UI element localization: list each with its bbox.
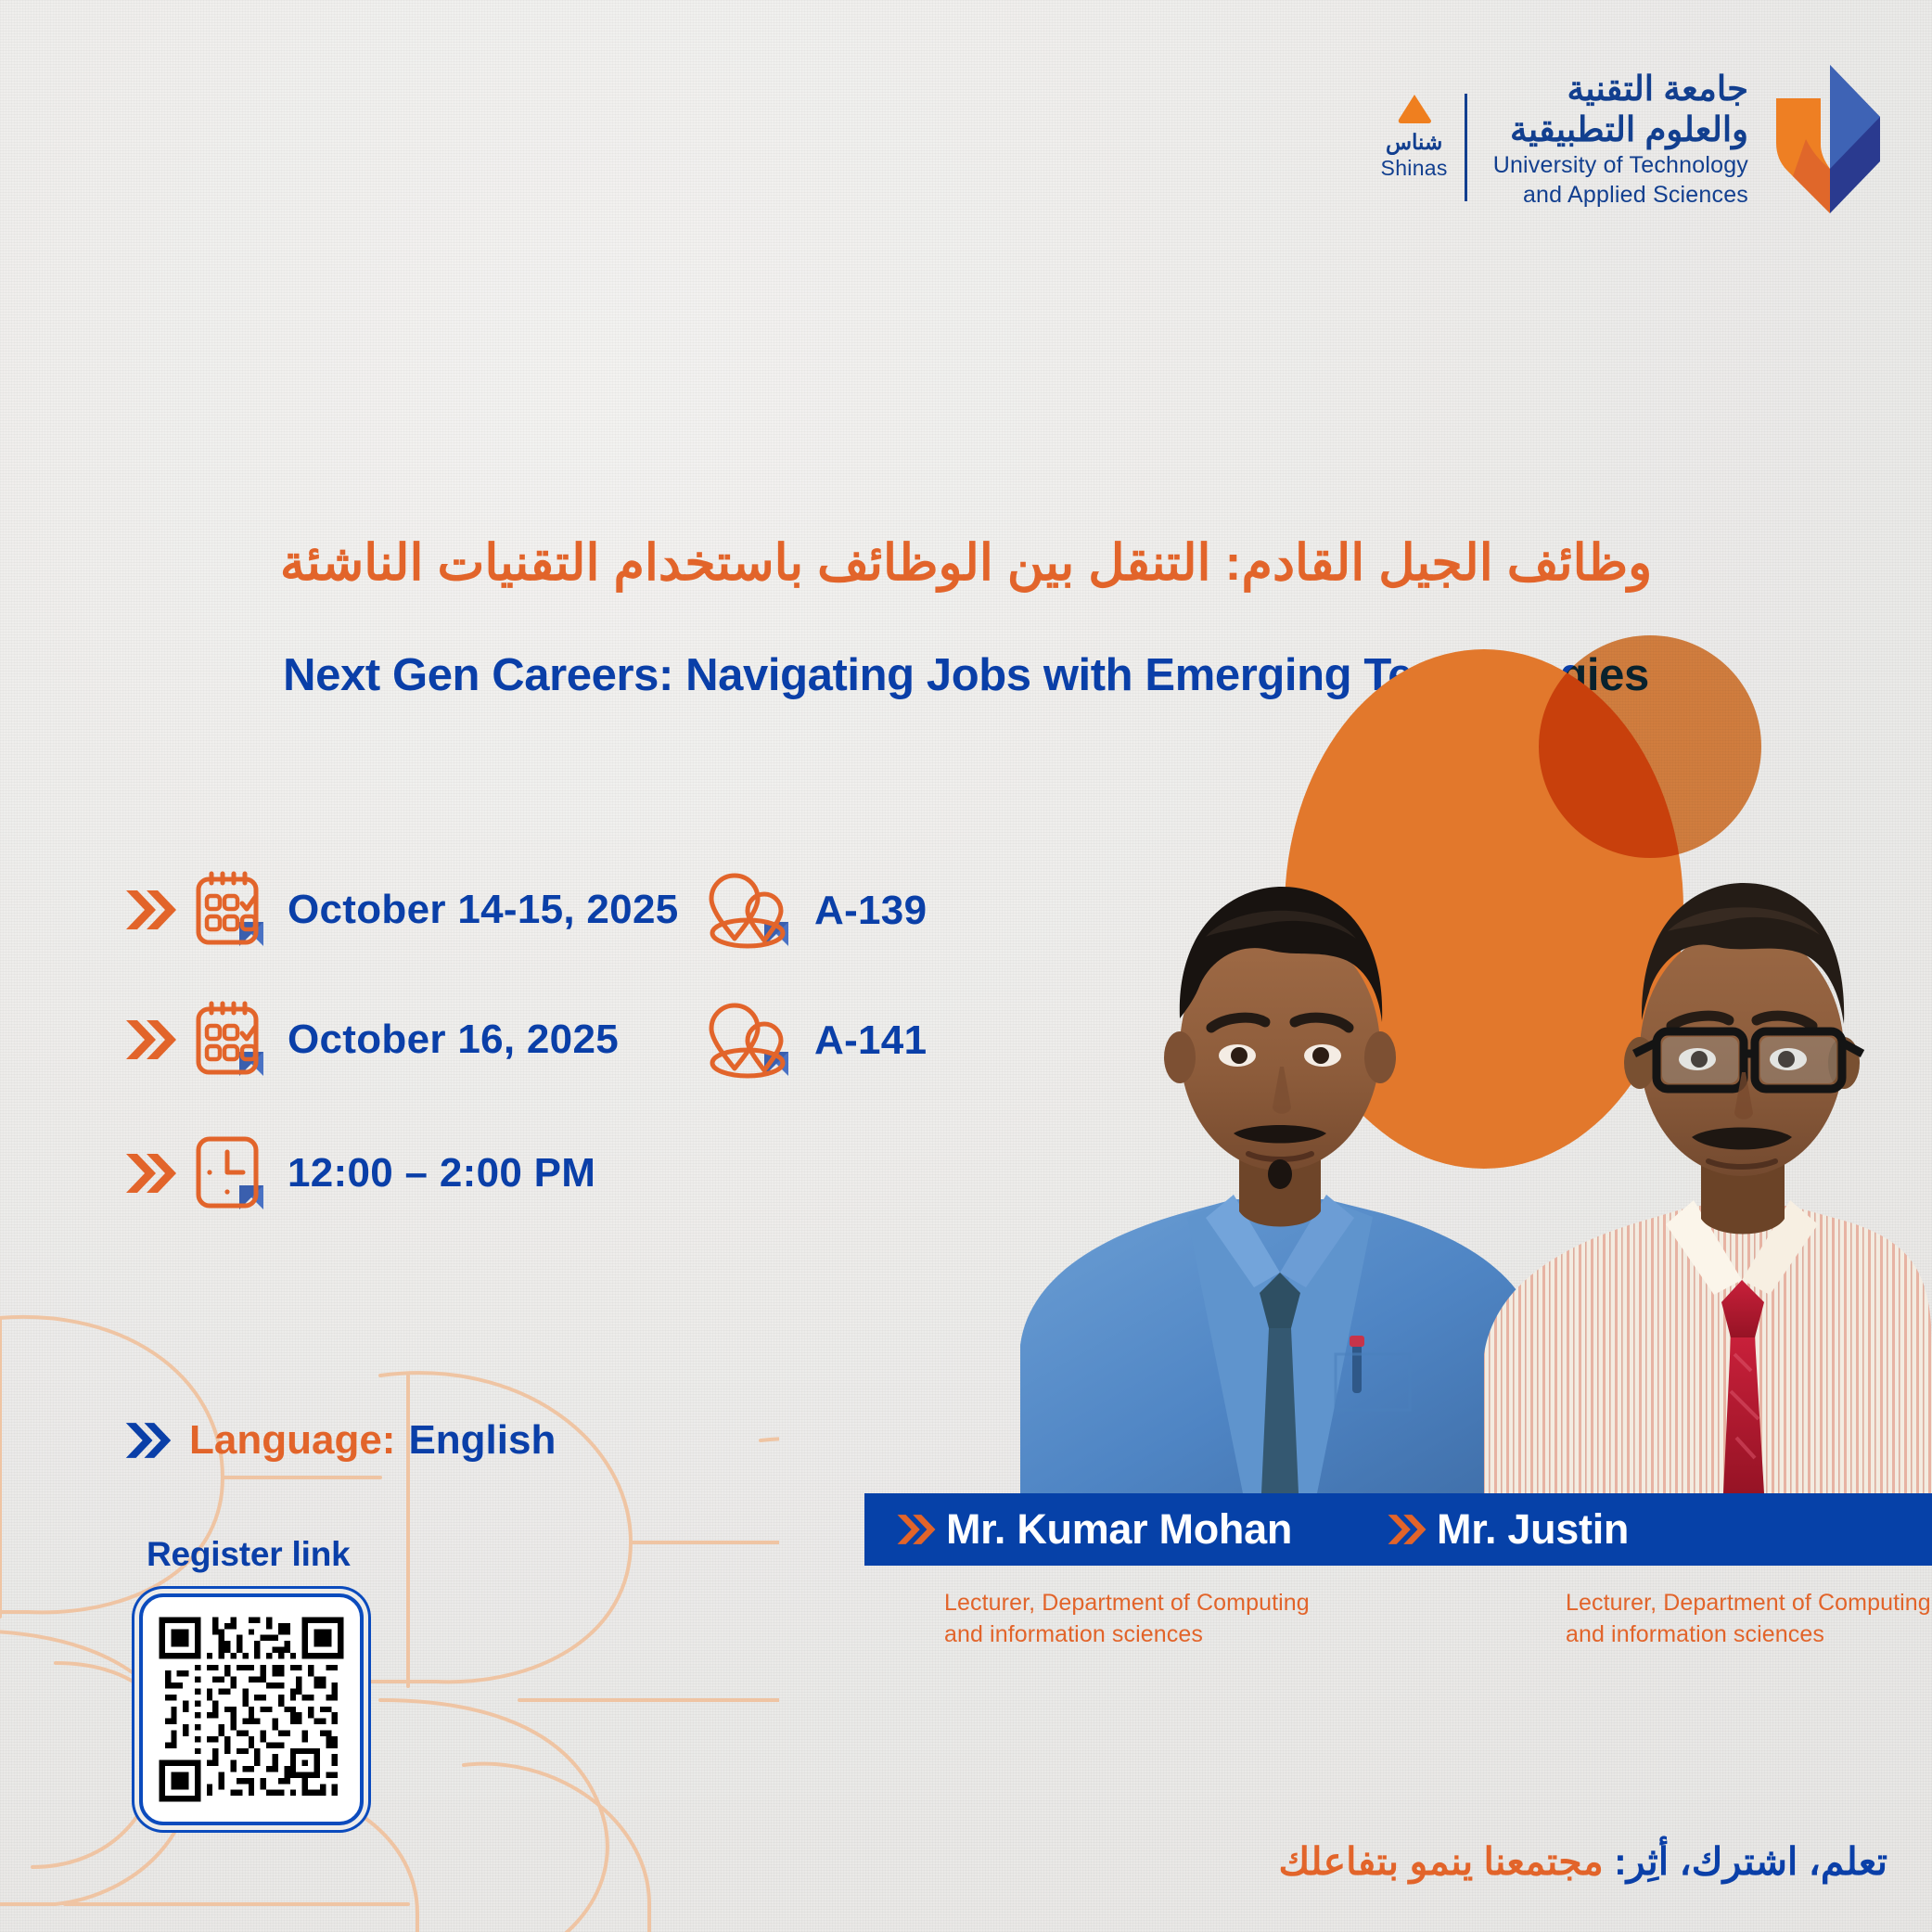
chevron-double-right-icon xyxy=(1387,1509,1427,1550)
date-1-text: October 14-15, 2025 xyxy=(288,887,679,933)
qr-code-frame[interactable] xyxy=(139,1593,364,1825)
tagline-blue-part: تعلم، اشترك، أثِر: xyxy=(1614,1840,1887,1883)
location-pin-icon xyxy=(707,1000,796,1081)
tagline-orange-part: مجتمعنا ينمو بتفاعلك xyxy=(1278,1840,1614,1883)
chevron-double-right-icon xyxy=(124,1017,178,1063)
university-name-english-2: and Applied Sciences xyxy=(1493,180,1748,210)
venue-2-text: A-141 xyxy=(814,1017,927,1064)
speaker-role-1-line1: Lecturer, Department of Computing xyxy=(944,1588,1310,1619)
chevron-double-right-icon xyxy=(124,1419,173,1462)
speaker-role-1: Lecturer, Department of Computing and in… xyxy=(944,1588,1310,1651)
speaker-role-2-line2: and information sciences xyxy=(1566,1619,1931,1651)
speaker-photo-left xyxy=(1020,887,1540,1493)
calendar-icon xyxy=(191,1000,269,1080)
bottom-tagline: تعلم، اشترك، أثِر: مجتمعنا ينمو بتفاعلك xyxy=(1278,1839,1887,1884)
speaker-photo-right xyxy=(1484,883,1932,1493)
chevron-double-right-icon xyxy=(896,1509,937,1550)
university-logo: شناس Shinas جامعة التقنية والعلوم التطبي… xyxy=(1381,56,1889,223)
speakers-name-bar: Mr. Kumar Mohan Mr. Justin xyxy=(864,1493,1932,1566)
campus-name-english: Shinas xyxy=(1381,155,1448,182)
speaker-role-2-line1: Lecturer, Department of Computing xyxy=(1566,1588,1931,1619)
speaker-name-2-text: Mr. Justin xyxy=(1437,1505,1629,1554)
time-text: 12:00 – 2:00 PM xyxy=(288,1150,595,1196)
logo-divider xyxy=(1465,94,1467,201)
title-arabic: وظائف الجيل القادم: التنقل بين الوظائف ب… xyxy=(0,533,1932,592)
event-poster: شناس Shinas جامعة التقنية والعلوم التطبي… xyxy=(0,0,1932,1932)
detail-row-venue-2: A-141 xyxy=(707,1000,927,1081)
language-value: English xyxy=(408,1417,556,1464)
utas-shield-icon xyxy=(1769,59,1889,219)
campus-name-arabic: شناس xyxy=(1386,130,1442,154)
detail-row-language: Language: English xyxy=(124,1417,556,1464)
detail-row-date-2: October 16, 2025 xyxy=(124,1000,619,1080)
speakers-photo xyxy=(928,705,1932,1493)
calendar-icon xyxy=(191,870,269,950)
chevron-double-right-icon xyxy=(124,887,178,933)
shinas-triangle-icon xyxy=(1396,93,1433,124)
speaker-role-1-line2: and information sciences xyxy=(944,1619,1310,1651)
detail-row-time: 12:00 – 2:00 PM xyxy=(124,1133,595,1213)
university-name-arabic-2: والعلوم التطبيقية xyxy=(1493,109,1748,150)
registration-qr-code[interactable] xyxy=(153,1608,350,1810)
register-link-label: Register link xyxy=(147,1535,350,1574)
chevron-double-right-icon xyxy=(124,1150,178,1196)
speaker-name-2: Mr. Justin xyxy=(1387,1505,1629,1554)
campus-lockup: شناس Shinas xyxy=(1381,93,1448,185)
clock-icon xyxy=(191,1133,269,1213)
university-name-english-1: University of Technology xyxy=(1493,150,1748,180)
venue-1-text: A-139 xyxy=(814,888,927,934)
speaker-name-1: Mr. Kumar Mohan xyxy=(896,1505,1292,1554)
university-name-arabic-1: جامعة التقنية xyxy=(1493,69,1748,109)
detail-row-date-1: October 14-15, 2025 xyxy=(124,870,679,950)
speaker-name-1-text: Mr. Kumar Mohan xyxy=(946,1505,1292,1554)
date-2-text: October 16, 2025 xyxy=(288,1017,619,1063)
speaker-role-2: Lecturer, Department of Computing and in… xyxy=(1566,1588,1931,1651)
location-pin-icon xyxy=(707,870,796,952)
language-label: Language: xyxy=(189,1417,395,1464)
detail-row-venue-1: A-139 xyxy=(707,870,927,952)
calligraphy-background-pattern xyxy=(0,1264,779,1932)
university-name-block: جامعة التقنية والعلوم التطبيقية Universi… xyxy=(1493,69,1748,211)
